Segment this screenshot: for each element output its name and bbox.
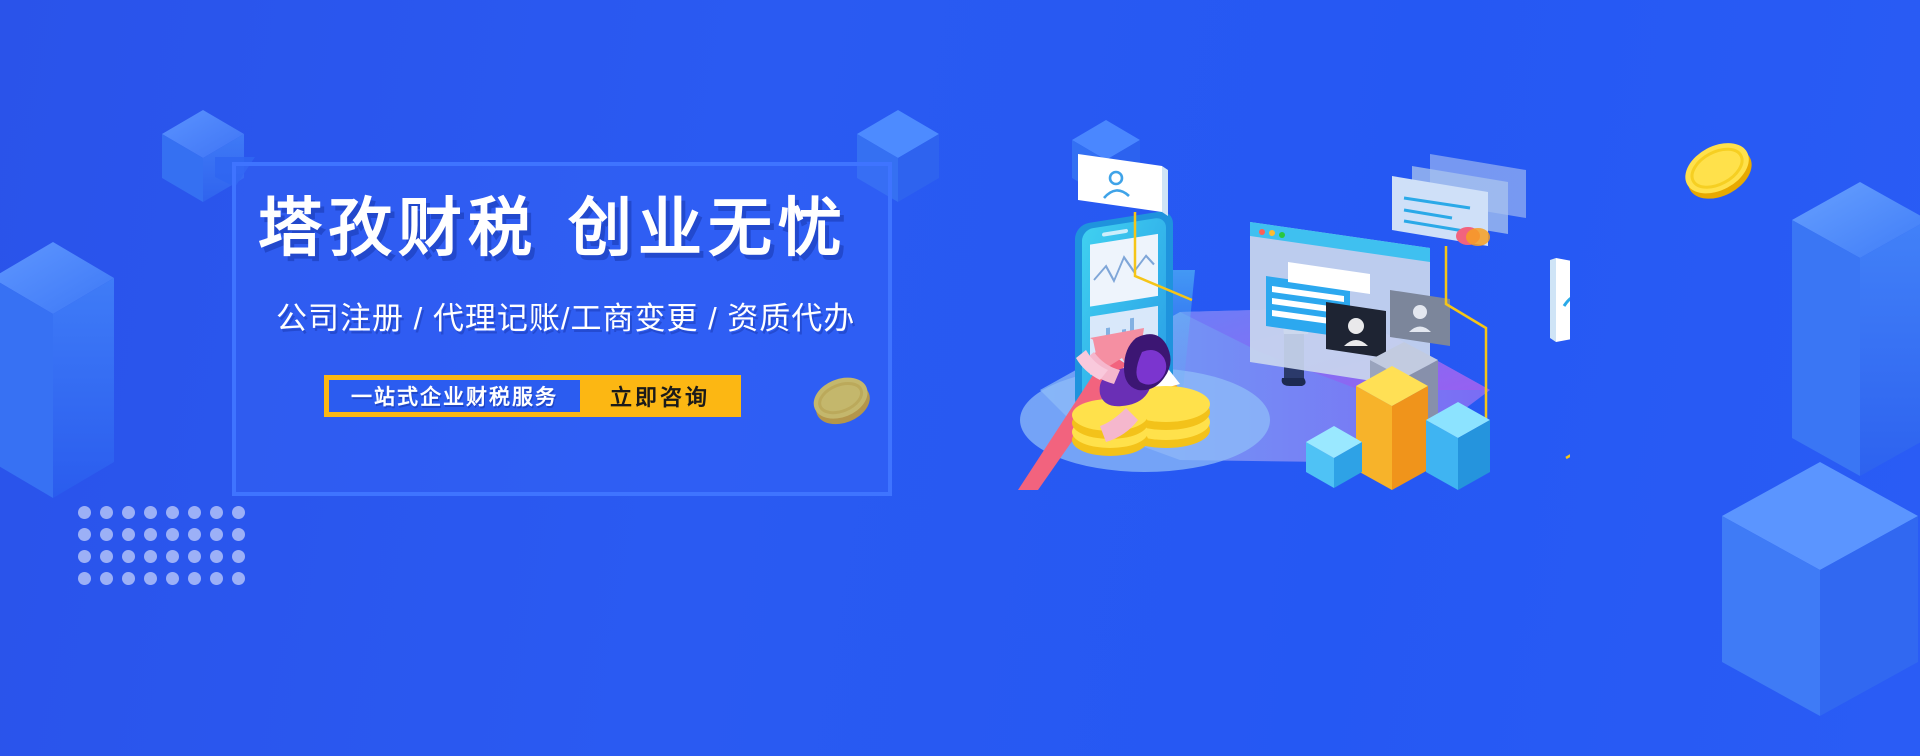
coin-icon-top-right [1678,134,1758,211]
consult-now-button[interactable]: 立即咨询 [580,380,736,412]
hero-illustration [930,90,1570,490]
cta-tag-label: 一站式企业财税服务 [329,380,580,412]
page-title: 塔孜财税创业无忧 [258,196,878,260]
line-chart-card [1550,258,1570,458]
promotional-banner: 塔孜财税创业无忧 公司注册 / 代理记账/工商变更 / 资质代办 一站式企业财税… [0,0,1920,756]
cube-icon-tall-left [0,180,116,505]
dot-grid-pattern [78,506,254,594]
cube-icon-tall-right [1790,180,1920,485]
cta-bar[interactable]: 一站式企业财税服务 立即咨询 [324,375,741,417]
cube-icon-bottom-right [1720,460,1920,725]
headline-brand: 塔孜财税 [258,192,538,264]
services-list: 公司注册 / 代理记账/工商变更 / 资质代办 [276,300,876,337]
headline-tagline: 创业无忧 [568,192,848,264]
